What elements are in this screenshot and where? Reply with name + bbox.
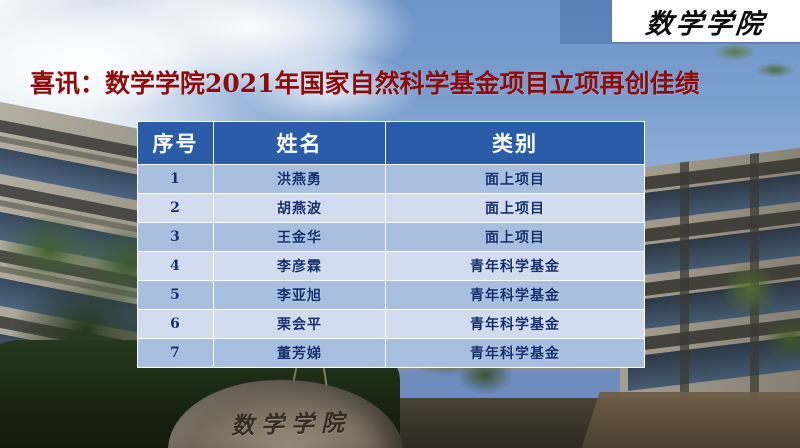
page-title: 喜讯：数学学院2021年国家自然科学基金项目立项再创佳绩 <box>30 64 700 100</box>
cell-category: 青年科学基金 <box>386 339 645 368</box>
pavement <box>580 392 800 448</box>
table-row: 7董芳娣青年科学基金 <box>138 339 645 368</box>
cell-category: 青年科学基金 <box>386 252 645 281</box>
table-row: 6栗会平青年科学基金 <box>138 310 645 339</box>
table-row: 3王金华面上项目 <box>138 223 645 252</box>
stone-monument-text: 数学学院 <box>196 403 387 442</box>
cell-name: 李亚旭 <box>214 281 386 310</box>
cell-no: 2 <box>138 194 214 223</box>
table-row: 2胡燕波面上项目 <box>138 194 645 223</box>
cell-category: 面上项目 <box>386 194 645 223</box>
cell-no: 7 <box>138 339 214 368</box>
cell-name: 胡燕波 <box>214 194 386 223</box>
cell-category: 面上项目 <box>386 165 645 194</box>
cell-no: 3 <box>138 223 214 252</box>
table-row: 4李彦霖青年科学基金 <box>138 252 645 281</box>
cell-name: 洪燕勇 <box>214 165 386 194</box>
cell-name: 董芳娣 <box>214 339 386 368</box>
school-logo-text: 数学学院 <box>644 2 768 41</box>
cell-no: 6 <box>138 310 214 339</box>
cell-no: 5 <box>138 281 214 310</box>
table-header-row: 序号 姓名 类别 <box>138 122 645 165</box>
column-header-no: 序号 <box>138 122 214 165</box>
cell-name: 王金华 <box>214 223 386 252</box>
grant-table: 序号 姓名 类别 1洪燕勇面上项目2胡燕波面上项目3王金华面上项目4李彦霖青年科… <box>137 121 645 368</box>
table-row: 5李亚旭青年科学基金 <box>138 281 645 310</box>
cell-category: 青年科学基金 <box>386 281 645 310</box>
column-header-name: 姓名 <box>214 122 386 165</box>
slide-canvas: 数学学院 数学学院 喜讯：数学学院2021年国家自然科学基金项目立项再创佳绩 序… <box>0 0 800 448</box>
cell-name: 栗会平 <box>214 310 386 339</box>
grant-table-wrapper: 序号 姓名 类别 1洪燕勇面上项目2胡燕波面上项目3王金华面上项目4李彦霖青年科… <box>137 121 644 368</box>
right-tree <box>690 250 800 400</box>
table-row: 1洪燕勇面上项目 <box>138 165 645 194</box>
cell-name: 李彦霖 <box>214 252 386 281</box>
column-header-category: 类别 <box>386 122 645 165</box>
table-body: 1洪燕勇面上项目2胡燕波面上项目3王金华面上项目4李彦霖青年科学基金5李亚旭青年… <box>138 165 645 368</box>
cell-no: 4 <box>138 252 214 281</box>
cell-no: 1 <box>138 165 214 194</box>
school-logo-banner: 数学学院 <box>612 0 800 42</box>
cell-category: 面上项目 <box>386 223 645 252</box>
cell-category: 青年科学基金 <box>386 310 645 339</box>
